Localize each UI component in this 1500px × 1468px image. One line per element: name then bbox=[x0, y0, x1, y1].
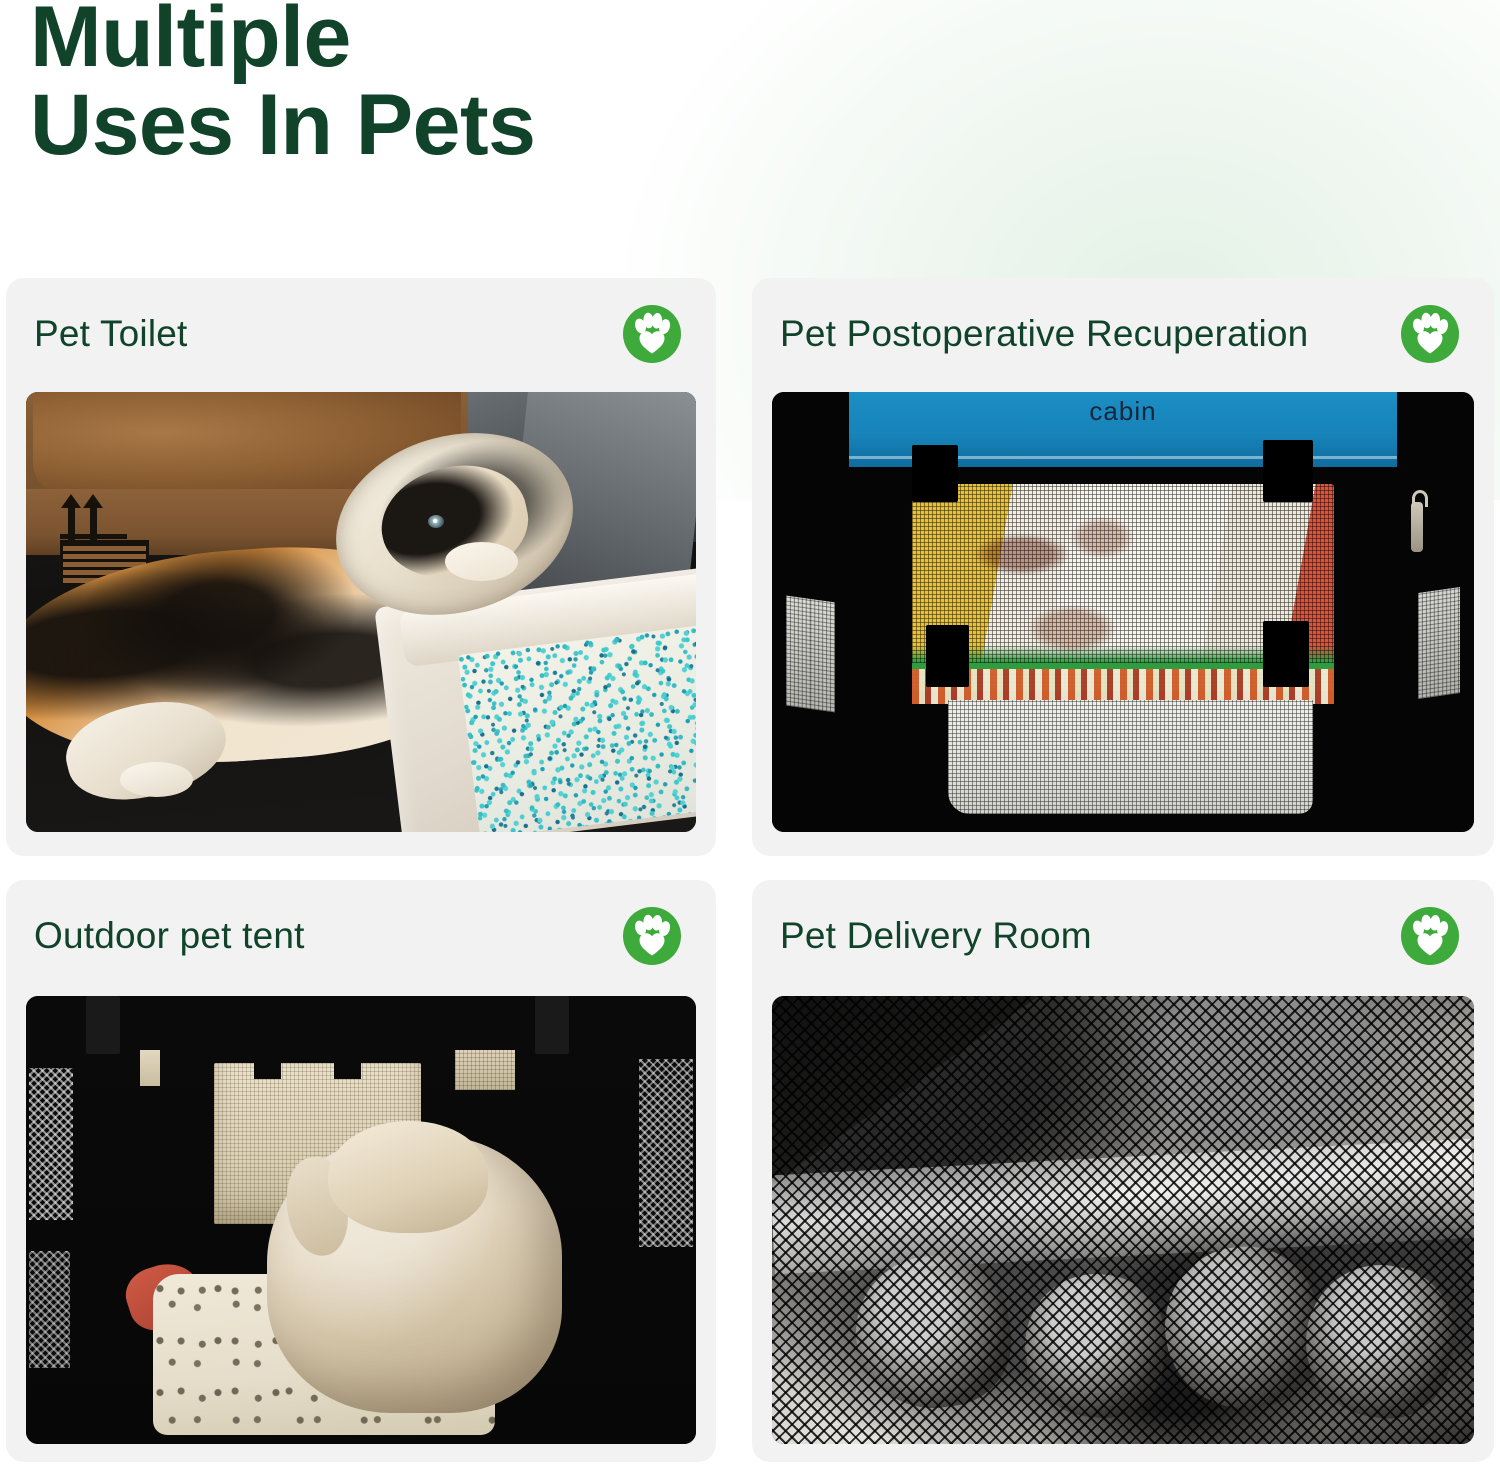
card-pet-delivery-room[interactable]: Pet Delivery Room bbox=[752, 880, 1494, 1462]
page-title: Multiple Uses In Pets bbox=[30, 0, 890, 169]
card-header: Outdoor pet tent bbox=[6, 880, 716, 992]
card-pet-postoperative-recuperation[interactable]: Pet Postoperative Recuperation cabin bbox=[752, 278, 1494, 856]
photo-pet-delivery-room bbox=[772, 996, 1474, 1444]
photo-pet-toilet bbox=[26, 392, 696, 832]
card-title: Pet Delivery Room bbox=[780, 915, 1092, 957]
paw-icon bbox=[622, 906, 682, 966]
zipper-pull-icon bbox=[1411, 502, 1423, 552]
photo-outdoor-pet-tent bbox=[26, 996, 696, 1444]
card-header: Pet Delivery Room bbox=[752, 880, 1494, 992]
photo-text-cabin: cabin bbox=[772, 396, 1474, 427]
card-outdoor-pet-tent[interactable]: Outdoor pet tent bbox=[6, 880, 716, 1462]
card-header: Pet Postoperative Recuperation bbox=[752, 278, 1494, 390]
card-title: Pet Postoperative Recuperation bbox=[780, 313, 1308, 355]
card-title: Outdoor pet tent bbox=[34, 915, 305, 957]
photo-pet-postoperative-recuperation: cabin bbox=[772, 392, 1474, 832]
paw-icon bbox=[1400, 906, 1460, 966]
card-pet-toilet[interactable]: Pet Toilet bbox=[6, 278, 716, 856]
pet-uses-infographic: Multiple Uses In Pets Pet Toilet bbox=[0, 0, 1500, 1468]
card-title: Pet Toilet bbox=[34, 313, 188, 355]
paw-icon bbox=[622, 304, 682, 364]
paw-icon bbox=[1400, 304, 1460, 364]
card-header: Pet Toilet bbox=[6, 278, 716, 390]
